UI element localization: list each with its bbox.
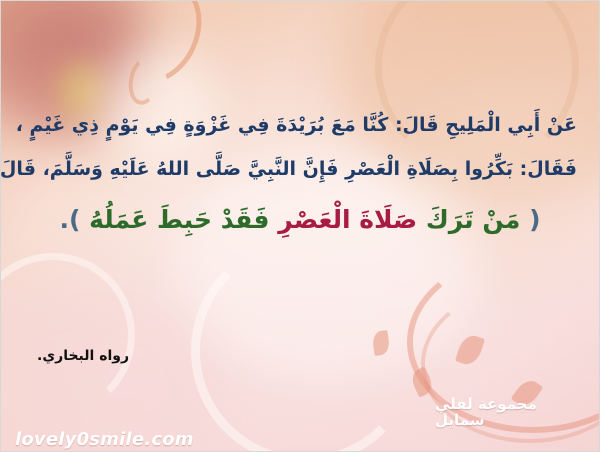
quote-segment-green-2: فَقَدْ حَبِطَ عَمَلُهُ [89, 205, 269, 234]
watermark-domain-label: lovely0smile.com [15, 430, 585, 451]
quote-close-paren: ). [59, 205, 80, 234]
hadith-quote-line: ( مَنْ تَرَكَ صَلَاةَ الْعَصْرِ فَقَدْ ح… [23, 205, 577, 234]
hadith-card: عَنْ أَبِي الْمَلِيحِ قَالَ: كُنَّا مَعَ… [0, 0, 600, 452]
watermark-band: مجموعة لفلي سمايل lovely0smile.com [1, 395, 599, 451]
hadith-content: عَنْ أَبِي الْمَلِيحِ قَالَ: كُنَّا مَعَ… [1, 1, 599, 451]
watermark-arabic-label: مجموعة لفلي سمايل [435, 396, 585, 429]
hadith-narrator-attribution: رواه البخاري. [37, 348, 129, 364]
quote-open-paren: ( [529, 205, 540, 234]
quote-segment-green-1: مَنْ تَرَكَ [426, 205, 521, 234]
hadith-narration-line-2: فَقَالَ: بَكِّرُوا بِصَلَاةِ الْعَصْرِ ف… [23, 158, 577, 180]
quote-segment-red: صَلَاةَ الْعَصْرِ [278, 205, 417, 234]
hadith-narration-line-1: عَنْ أَبِي الْمَلِيحِ قَالَ: كُنَّا مَعَ… [23, 114, 577, 136]
